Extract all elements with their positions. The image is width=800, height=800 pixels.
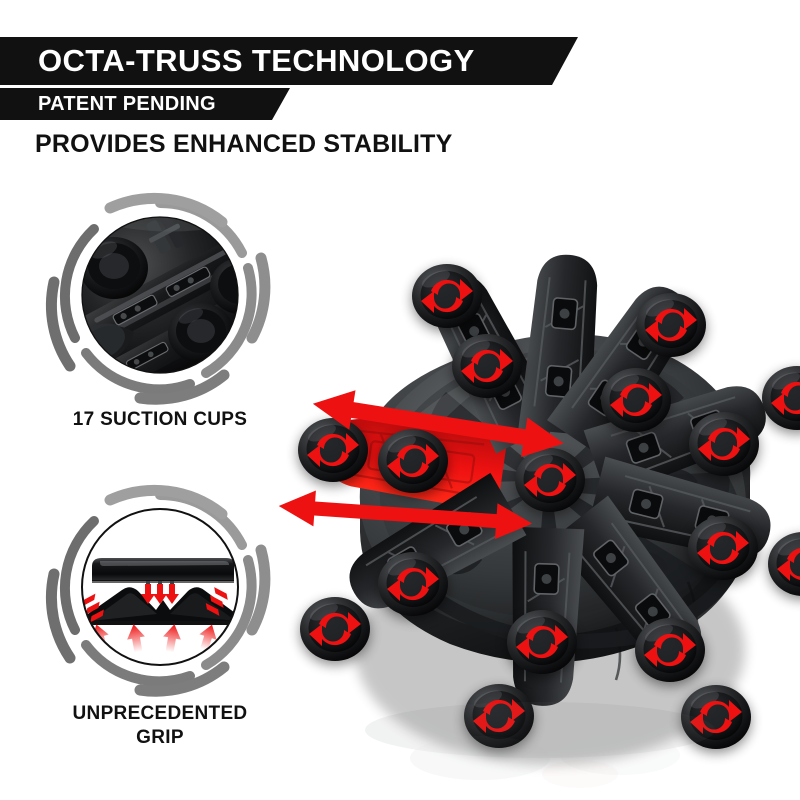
suction-cup: [298, 418, 368, 486]
suction-cup: [378, 429, 448, 497]
suction-cup: [688, 516, 758, 584]
suction-cup: [452, 334, 522, 402]
downward-force-arrows: [141, 584, 179, 604]
suction-cup: [681, 685, 751, 753]
page-title: OCTA-TRUSS TECHNOLOGY: [0, 43, 475, 79]
suction-cup: [768, 532, 800, 600]
suction-cup: [300, 597, 370, 665]
title-banner: OCTA-TRUSS TECHNOLOGY: [0, 37, 578, 85]
suction-cup: [635, 618, 705, 686]
patent-banner: PATENT PENDING: [0, 88, 290, 120]
suction-cup: [464, 684, 534, 752]
suction-cup: [601, 368, 671, 436]
suction-cup: [762, 366, 800, 434]
infographic-page: OCTA-TRUSS TECHNOLOGY PATENT PENDING PRO…: [0, 0, 800, 800]
suction-cup: [378, 552, 448, 620]
suction-cup: [689, 412, 759, 480]
suction-cup: [412, 264, 482, 332]
suction-cup: [507, 610, 577, 678]
suction-cup-center: [515, 448, 585, 516]
patent-pending-label: PATENT PENDING: [0, 93, 216, 116]
product-image: [250, 150, 800, 790]
device-bar: [92, 558, 234, 583]
suction-cup: [636, 293, 706, 361]
